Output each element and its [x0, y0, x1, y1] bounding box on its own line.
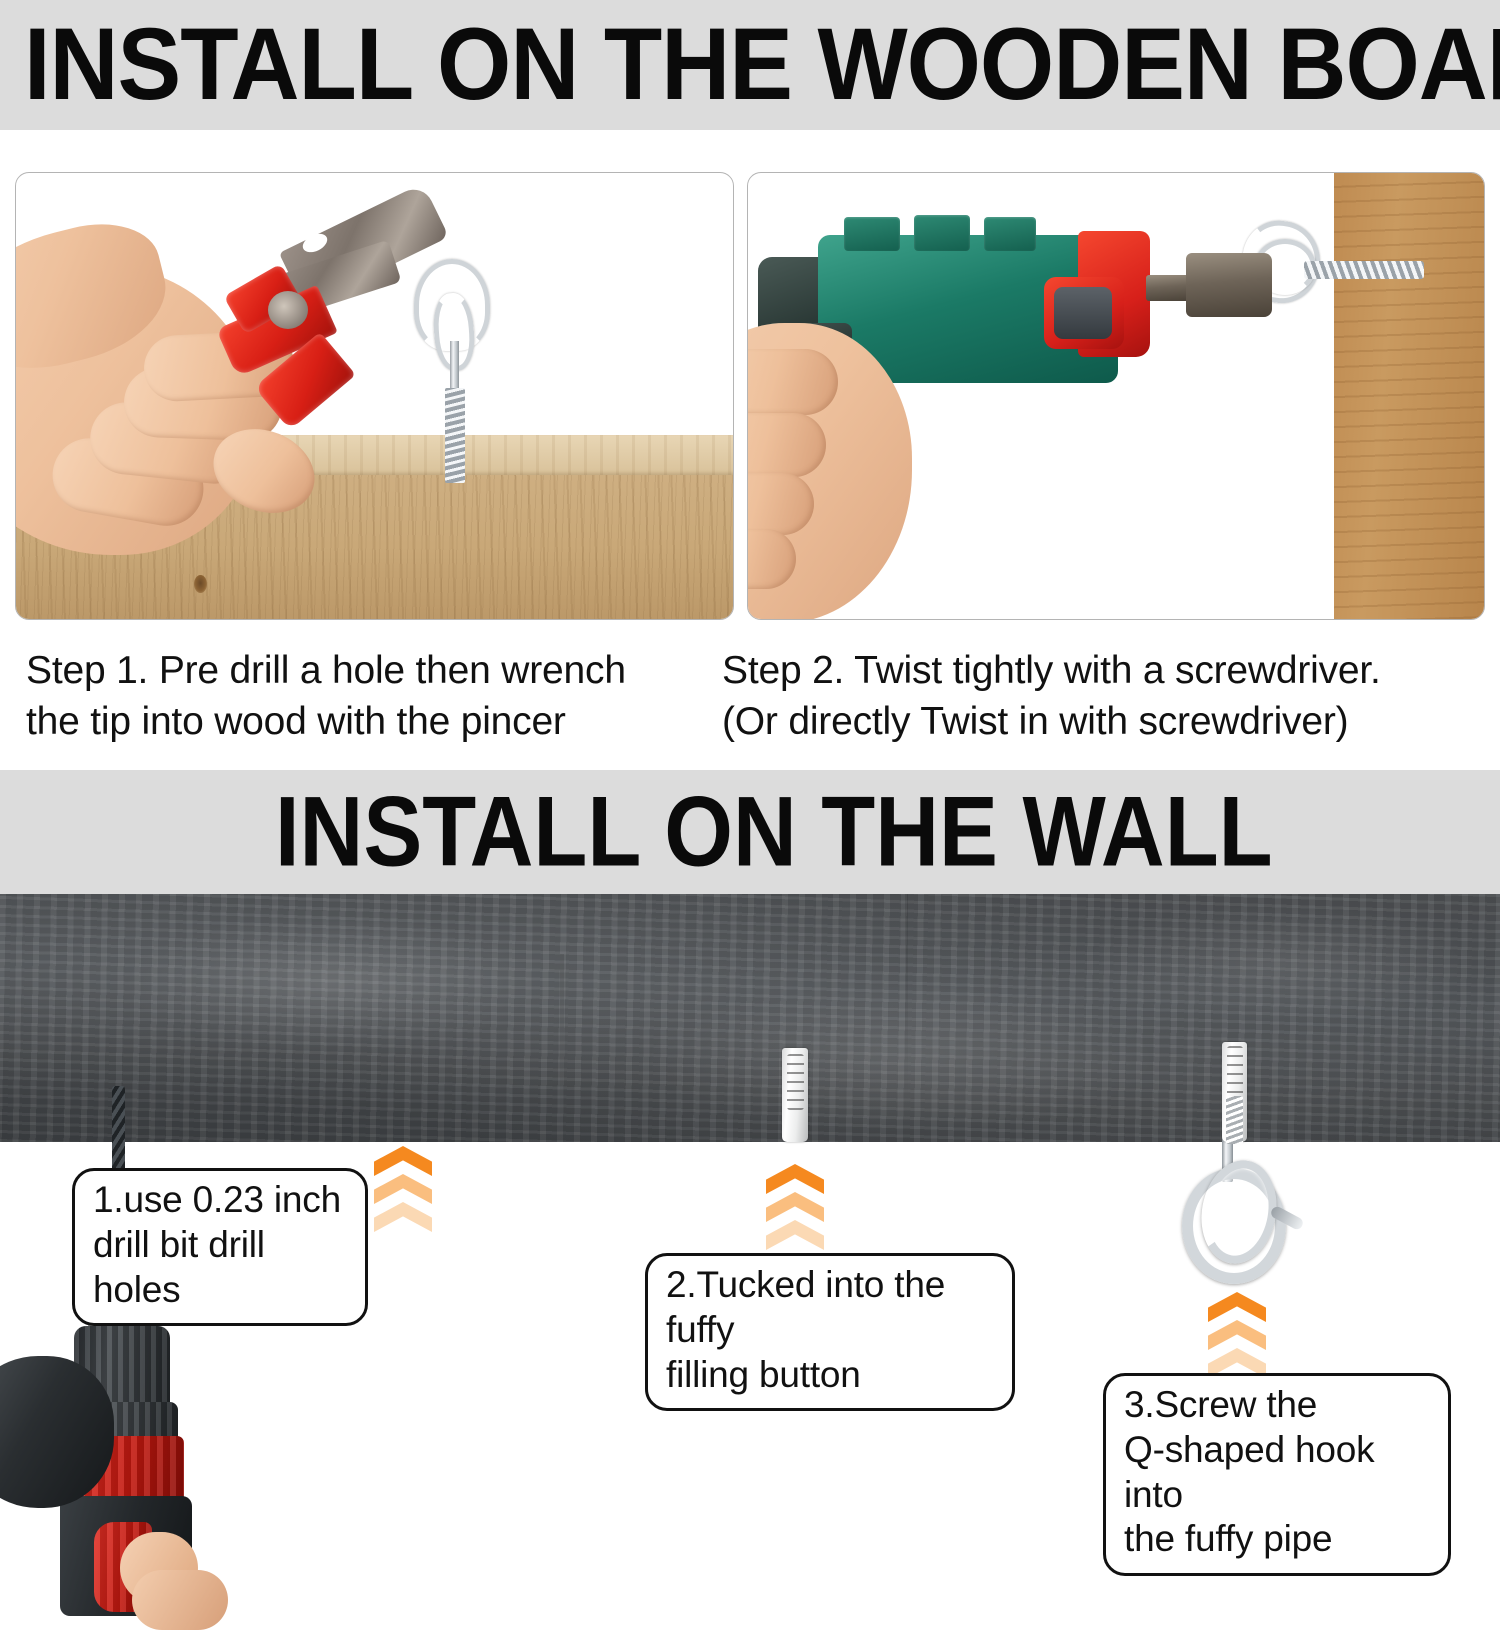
section-title-wall: INSTALL ON THE WALL	[275, 782, 1273, 881]
hook-screw-thread	[445, 388, 465, 483]
plier-pivot	[268, 291, 308, 329]
chevron-up-icon	[766, 1220, 824, 1250]
wall-blotch	[120, 914, 540, 1054]
driver-bit-holder	[1146, 275, 1190, 301]
callout-1-line-2: drill bit drill holes	[93, 1223, 347, 1313]
vertical-wooden-board	[1334, 172, 1485, 620]
step-2-caption: Step 2. Twist tightly with a screwdriver…	[722, 646, 1492, 747]
driver-vent	[984, 217, 1036, 251]
step-1-caption-line-1: Step 1. Pre drill a hole then wrench	[26, 646, 726, 697]
concrete-wall	[0, 894, 1500, 1142]
step-1-caption-line-2: the tip into wood with the pincer	[26, 697, 726, 748]
callout-drill-holes: 1.use 0.23 inch drill bit drill holes	[72, 1168, 368, 1326]
hook-screw-thread	[1304, 261, 1424, 279]
callout-3-line-1: 3.Screw the	[1124, 1383, 1430, 1428]
finger	[747, 349, 838, 415]
finger	[747, 473, 814, 535]
wall-blotch	[1080, 904, 1480, 1024]
chevron-up-icon	[766, 1192, 824, 1222]
driver-socket	[1186, 253, 1272, 317]
section-header-wooden-board: INSTALL ON THE WOODEN BOARD	[0, 0, 1500, 130]
callout-3-line-3: the fuffy pipe	[1124, 1517, 1430, 1562]
finger	[747, 413, 826, 477]
anchor-ribs	[787, 1054, 804, 1110]
callout-screw-hook: 3.Screw the Q-shaped hook into the fuffy…	[1103, 1373, 1451, 1576]
callout-1-line-1: 1.use 0.23 inch	[93, 1178, 347, 1223]
callout-2-line-2: filling button	[666, 1353, 994, 1398]
callout-2-line-1: 2.Tucked into the fuffy	[666, 1263, 994, 1353]
driver-vent	[844, 217, 900, 251]
step-2-caption-line-1: Step 2. Twist tightly with a screwdriver…	[722, 646, 1492, 697]
driver-direction-switch	[1054, 287, 1112, 339]
driver-vent	[914, 215, 970, 251]
step-1-photo-card	[15, 172, 734, 620]
wall-streak	[905, 894, 908, 1104]
chevron-up-icon	[766, 1164, 824, 1194]
step-1-caption: Step 1. Pre drill a hole then wrench the…	[26, 646, 726, 747]
step-2-caption-line-2: (Or directly Twist in with screwdriver)	[722, 697, 1492, 748]
callout-3-line-2: Q-shaped hook into	[1124, 1428, 1430, 1518]
callout-insert-anchor: 2.Tucked into the fuffy filling button	[645, 1253, 1015, 1411]
wood-knot	[194, 575, 207, 593]
step-2-photo-card	[747, 172, 1485, 620]
anchor-thread	[1226, 1096, 1243, 1144]
section-title-wooden-board: INSTALL ON THE WOODEN BOARD	[24, 14, 1500, 116]
wall-streak	[560, 954, 564, 1134]
anchor-ribs	[1227, 1046, 1243, 1096]
section-header-wall: INSTALL ON THE WALL	[0, 770, 1500, 894]
finger	[132, 1570, 228, 1630]
wall-blotch	[640, 984, 1160, 1134]
